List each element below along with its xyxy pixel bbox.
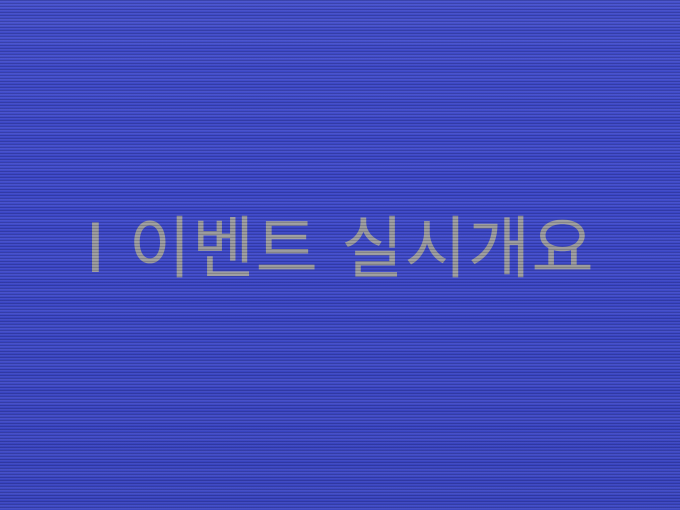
slide-canvas: Ⅰ 이벤트 실시개요 <box>0 0 680 510</box>
slide-background <box>0 0 680 510</box>
